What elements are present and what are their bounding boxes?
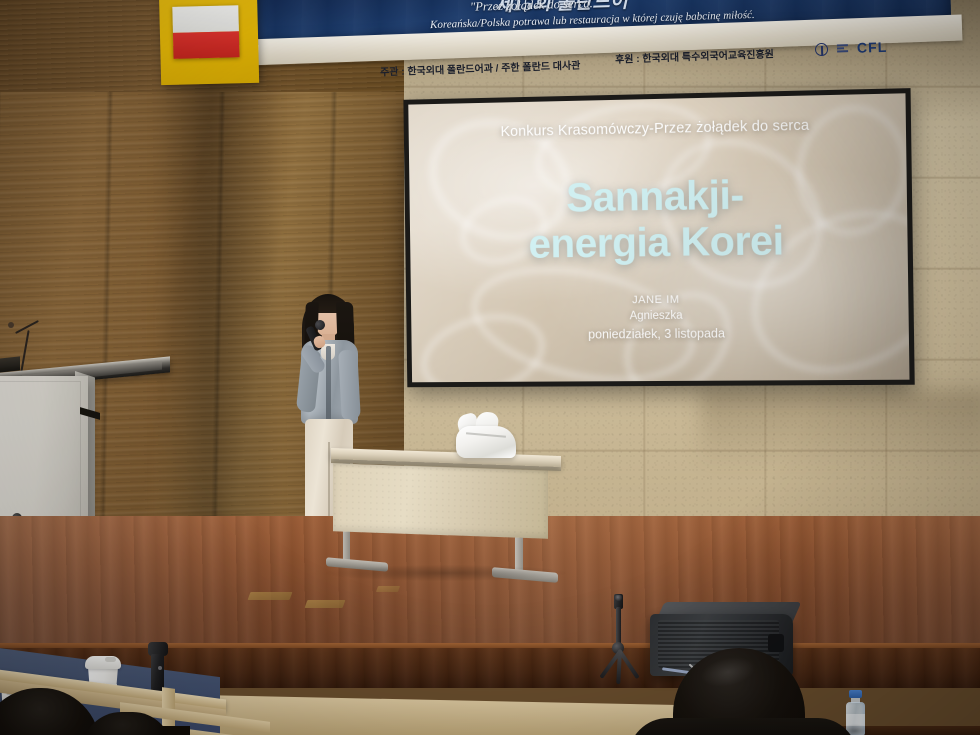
screen-glare: [408, 93, 909, 382]
banner-yellow-flag-panel: [159, 0, 259, 85]
table-panel-texture: [333, 463, 548, 539]
speaker-cardigan-placket: [326, 346, 331, 422]
banner-logo-row: CFL: [815, 39, 888, 58]
gimbal-button-icon: [158, 666, 162, 670]
cup-lid-tab: [105, 657, 116, 662]
table-floor-shadow: [326, 565, 566, 581]
flag-red-stripe: [173, 31, 240, 59]
speaker-right-arm: [338, 350, 361, 421]
tripod-camera: [598, 594, 642, 686]
auditorium-photo: 제15회 폴란드어 "Przez żołądek do serca. Korea…: [0, 0, 980, 735]
floor-socket-plate: [376, 586, 400, 592]
gooseneck-mic-capsule-icon: [8, 322, 14, 328]
projection-screen-frame: Konkurs Krasomówczy-Przez żołądek do ser…: [403, 88, 914, 387]
polish-flag-icon: [172, 5, 239, 59]
tripod-stem: [616, 607, 621, 645]
flag-white-stripe: [172, 5, 239, 33]
audience-shoulders: [628, 718, 858, 735]
bag-body: [456, 426, 516, 458]
camera-lens-icon: [615, 595, 622, 601]
projection-screen: Konkurs Krasomówczy-Przez żołądek do ser…: [408, 93, 909, 382]
plastic-bag: [452, 414, 518, 458]
event-banner: 제15회 폴란드어 "Przez żołądek do serca. Korea…: [160, 0, 950, 94]
wall-shadow-right: [700, 390, 980, 470]
institute-mark-icon: [837, 45, 848, 53]
floor-socket-plate: [248, 592, 293, 600]
floor-socket-plate: [305, 600, 346, 608]
monitor-handle: [768, 634, 784, 652]
cfl-logo-text: CFL: [857, 39, 888, 56]
table-modesty-panel: [333, 463, 548, 539]
university-emblem-icon: [815, 42, 828, 55]
bottle-cap-icon: [849, 690, 862, 698]
